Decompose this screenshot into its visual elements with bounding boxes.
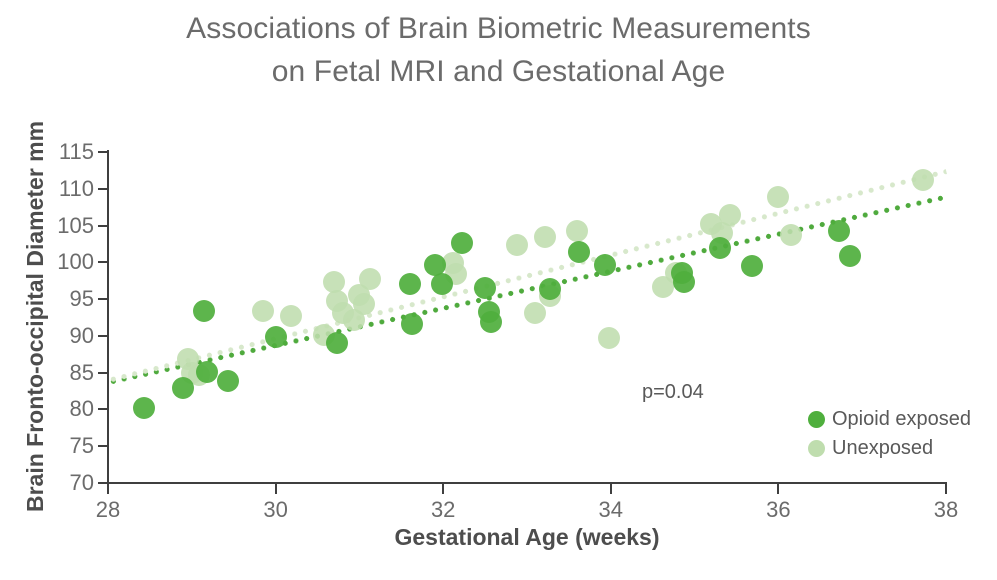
x-tick-mark	[275, 483, 277, 494]
scatter-point	[196, 361, 218, 383]
scatter-point	[359, 268, 381, 290]
scatter-point	[399, 273, 421, 295]
scatter-point	[673, 271, 695, 293]
scatter-point	[741, 255, 763, 277]
y-tick-label: 80	[70, 396, 94, 422]
scatter-point	[506, 234, 528, 256]
trendline-opioid-exposed	[107, 195, 946, 385]
y-tick-label: 100	[57, 249, 94, 275]
x-tick-mark	[777, 483, 779, 494]
y-tick-mark	[98, 225, 108, 227]
legend-marker-icon	[808, 411, 825, 428]
scatter-point	[534, 226, 556, 248]
scatter-point	[326, 332, 348, 354]
scatter-point	[524, 302, 546, 324]
x-tick-label: 32	[431, 497, 455, 523]
x-tick-label: 30	[263, 497, 287, 523]
legend-item-label: Opioid exposed	[832, 408, 971, 431]
x-tick-mark	[442, 483, 444, 494]
legend-item-label: Unexposed	[832, 437, 933, 460]
scatter-point	[280, 305, 302, 327]
scatter-point	[172, 377, 194, 399]
y-axis-title: Brain Fronto-occipital Diameter mm	[22, 92, 49, 512]
legend-marker-icon	[808, 440, 825, 457]
figure-container: Associations of Brain Biometric Measurem…	[0, 0, 997, 580]
x-tick-mark	[610, 483, 612, 494]
scatter-point	[265, 326, 287, 348]
scatter-point	[912, 169, 934, 191]
scatter-point	[719, 204, 741, 226]
y-tick-label: 70	[70, 470, 94, 496]
y-tick-mark	[98, 372, 108, 374]
x-tick-mark	[107, 483, 109, 494]
pvalue-annotation: p=0.04	[642, 381, 704, 404]
y-tick-mark	[98, 335, 108, 337]
scatter-point	[568, 241, 590, 263]
scatter-point	[474, 277, 496, 299]
x-axis-title: Gestational Age (weeks)	[108, 524, 946, 551]
chart-title-line-1: Associations of Brain Biometric Measurem…	[0, 8, 997, 51]
y-tick-mark	[98, 188, 108, 190]
y-tick-label: 95	[70, 286, 94, 312]
trendline-unexposed	[107, 169, 946, 383]
x-tick-label: 38	[934, 497, 958, 523]
y-tick-label: 85	[70, 360, 94, 386]
legend-item[interactable]: Unexposed	[808, 434, 971, 463]
scatter-point	[401, 313, 423, 335]
scatter-point	[252, 300, 274, 322]
scatter-point	[839, 245, 861, 267]
page-title: Associations of Brain Biometric Measurem…	[0, 8, 997, 93]
y-tick-label: 110	[59, 176, 94, 202]
scatter-point	[451, 232, 473, 254]
scatter-point	[828, 220, 850, 242]
scatter-point	[539, 278, 561, 300]
scatter-point	[217, 370, 239, 392]
legend-item[interactable]: Opioid exposed	[808, 405, 971, 434]
scatter-point	[133, 397, 155, 419]
y-tick-mark	[98, 151, 108, 153]
y-tick-mark	[98, 261, 108, 263]
y-tick-label: 105	[57, 213, 94, 239]
chart-title-line-2: on Fetal MRI and Gestational Age	[0, 51, 997, 94]
y-tick-mark	[98, 298, 108, 300]
scatter-point	[193, 300, 215, 322]
scatter-point	[480, 311, 502, 333]
x-tick-mark	[945, 483, 947, 494]
y-tick-label: 90	[70, 323, 94, 349]
scatter-point	[598, 327, 620, 349]
y-tick-label: 75	[70, 433, 94, 459]
scatter-point	[566, 220, 588, 242]
x-tick-label: 28	[96, 497, 120, 523]
scatter-point	[353, 293, 375, 315]
scatter-point	[709, 237, 731, 259]
x-tick-label: 34	[599, 497, 623, 523]
legend: Opioid exposedUnexposed	[808, 405, 971, 463]
y-tick-label: 115	[59, 139, 94, 165]
y-tick-mark	[98, 445, 108, 447]
scatter-point	[767, 186, 789, 208]
scatter-point	[594, 254, 616, 276]
y-tick-mark	[98, 408, 108, 410]
x-tick-label: 36	[766, 497, 790, 523]
scatter-point	[431, 273, 453, 295]
scatter-point	[780, 224, 802, 246]
